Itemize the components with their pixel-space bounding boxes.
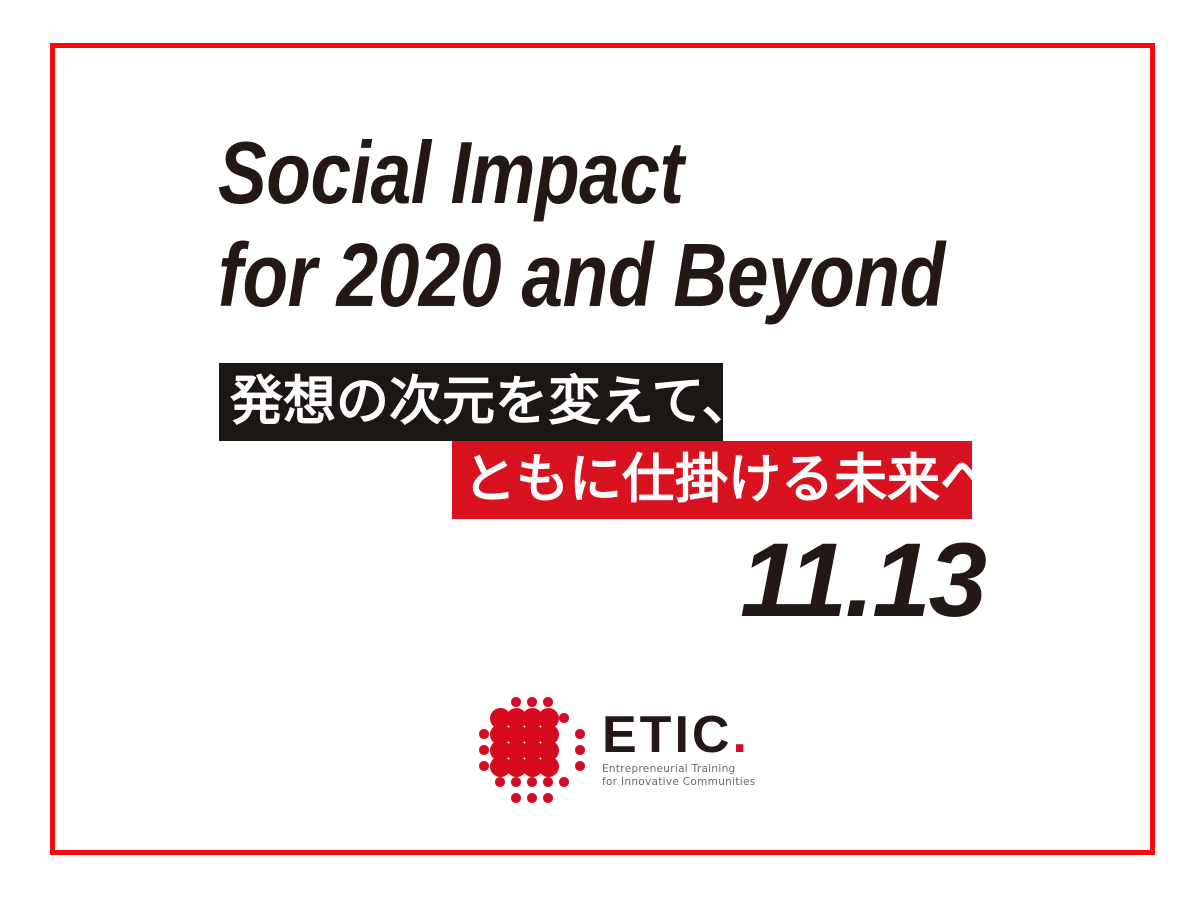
etic-logo-lockup: ETIC. Entrepreneurial Training for Innov…: [476, 694, 756, 806]
logo-dot: [479, 745, 489, 755]
etic-tagline-line-1: Entrepreneurial Training: [602, 763, 756, 776]
headline-block: Social Impact for 2020 and Beyond: [218, 122, 1018, 328]
logo-dot: [538, 756, 559, 777]
logo-dot: [575, 761, 585, 771]
logo-dot: [511, 793, 521, 803]
logo-dot: [575, 729, 585, 739]
logo-dot: [543, 697, 553, 707]
poster-canvas: Social Impact for 2020 and Beyond 発想の次元を…: [0, 0, 1200, 900]
etic-dot-matrix-mark-icon: [476, 694, 588, 806]
logo-dot: [527, 793, 537, 803]
etic-wordmark: ETIC.: [602, 710, 756, 760]
etic-wordmark-letters: ETIC: [602, 706, 732, 764]
japanese-tagline-row-2: ともに仕掛ける未来へ: [452, 441, 972, 519]
etic-tagline-line-2: for Innovative Communities: [602, 776, 756, 789]
event-date: 11.13: [0, 528, 985, 633]
logo-dot: [559, 777, 569, 787]
japanese-tagline-red-band: ともに仕掛ける未来へ: [452, 441, 972, 519]
logo-dot: [527, 777, 537, 787]
japanese-tagline-black-band: 発想の次元を変えて、: [219, 363, 723, 441]
logo-dot: [543, 793, 553, 803]
headline-line-1: Social Impact: [218, 122, 882, 224]
logo-dot: [479, 729, 489, 739]
headline-line-2: for 2020 and Beyond: [218, 224, 882, 328]
logo-dot: [511, 777, 521, 787]
japanese-tagline-row-1: 発想の次元を変えて、: [219, 363, 723, 441]
logo-dot: [511, 697, 521, 707]
logo-dot: [559, 713, 569, 723]
logo-dot: [575, 745, 585, 755]
logo-dot: [479, 761, 489, 771]
logo-dot: [543, 777, 553, 787]
logo-dot: [495, 777, 505, 787]
etic-wordmark-period: .: [732, 706, 749, 764]
etic-wordmark-block: ETIC. Entrepreneurial Training for Innov…: [602, 710, 756, 791]
logo-dot: [527, 697, 537, 707]
